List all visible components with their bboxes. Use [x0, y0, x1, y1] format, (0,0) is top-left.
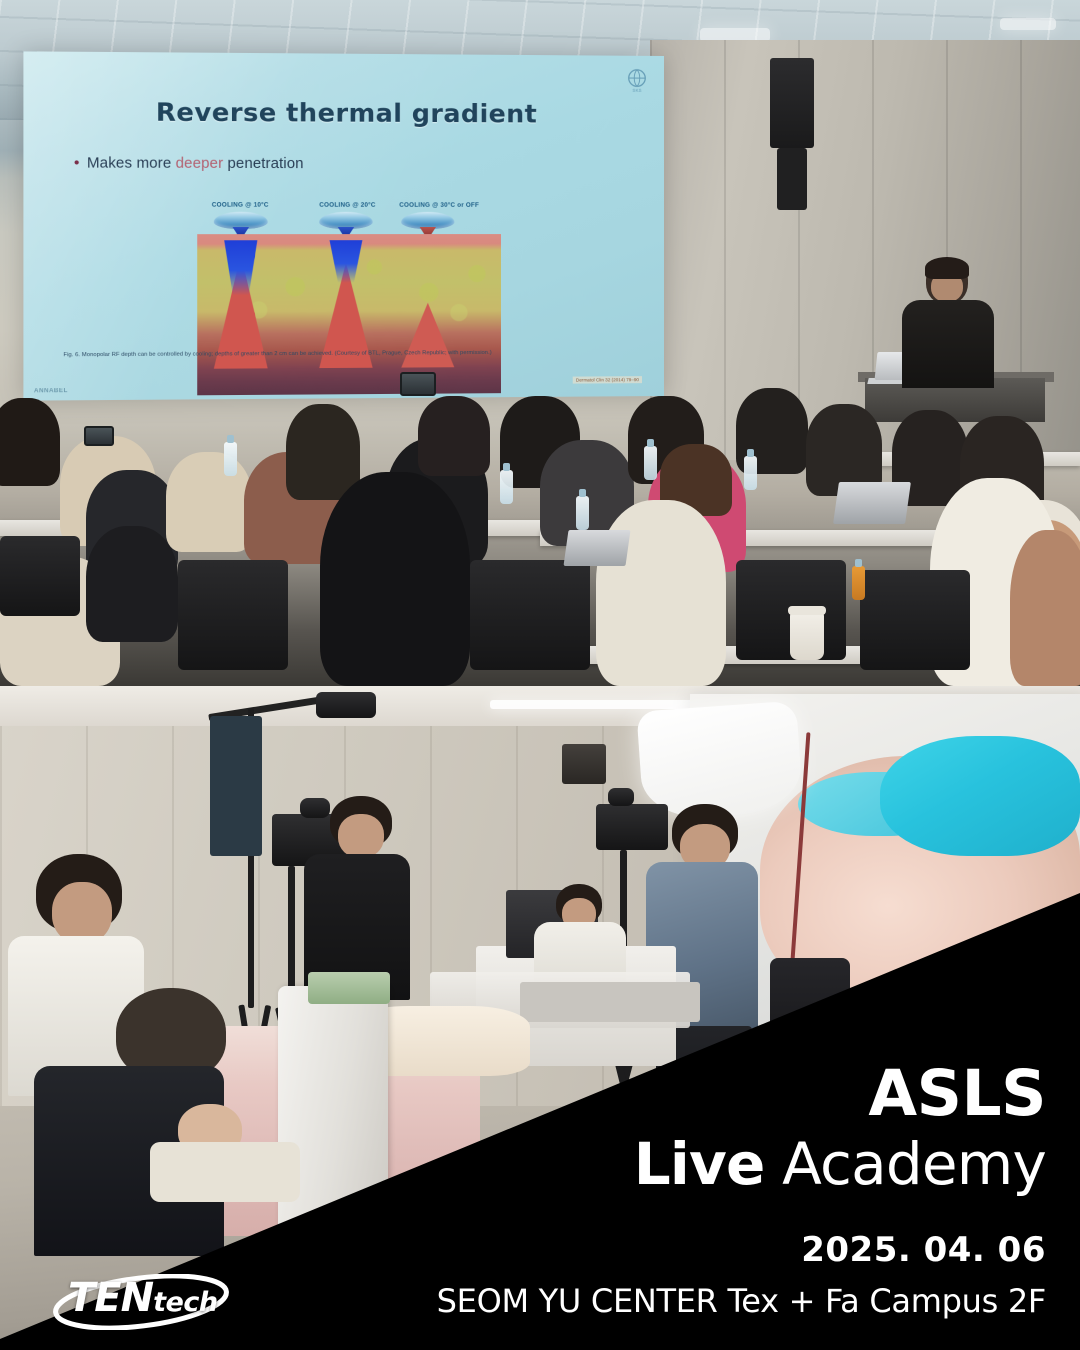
- event-title-primary: ASLS: [868, 1062, 1046, 1125]
- event-poster: SKS Reverse thermal gradient •Makes more…: [0, 0, 1080, 1350]
- tentech-wordmark: TENtech: [68, 1278, 218, 1318]
- tentech-logo: TENtech: [46, 1272, 276, 1334]
- event-venue: SEOM YU CENTER Tex + Fa Campus 2F: [437, 1282, 1046, 1320]
- event-title-live: Live: [634, 1130, 765, 1198]
- event-date: 2025. 04. 06: [801, 1230, 1046, 1270]
- poster-text-layer: ASLS Live Academy 2025. 04. 06 SEOM YU C…: [0, 0, 1080, 1350]
- tentech-main: TEN: [68, 1275, 153, 1321]
- event-title-academy: Academy: [765, 1130, 1046, 1198]
- tentech-suffix: tech: [153, 1287, 217, 1318]
- event-title-secondary: Live Academy: [634, 1135, 1046, 1193]
